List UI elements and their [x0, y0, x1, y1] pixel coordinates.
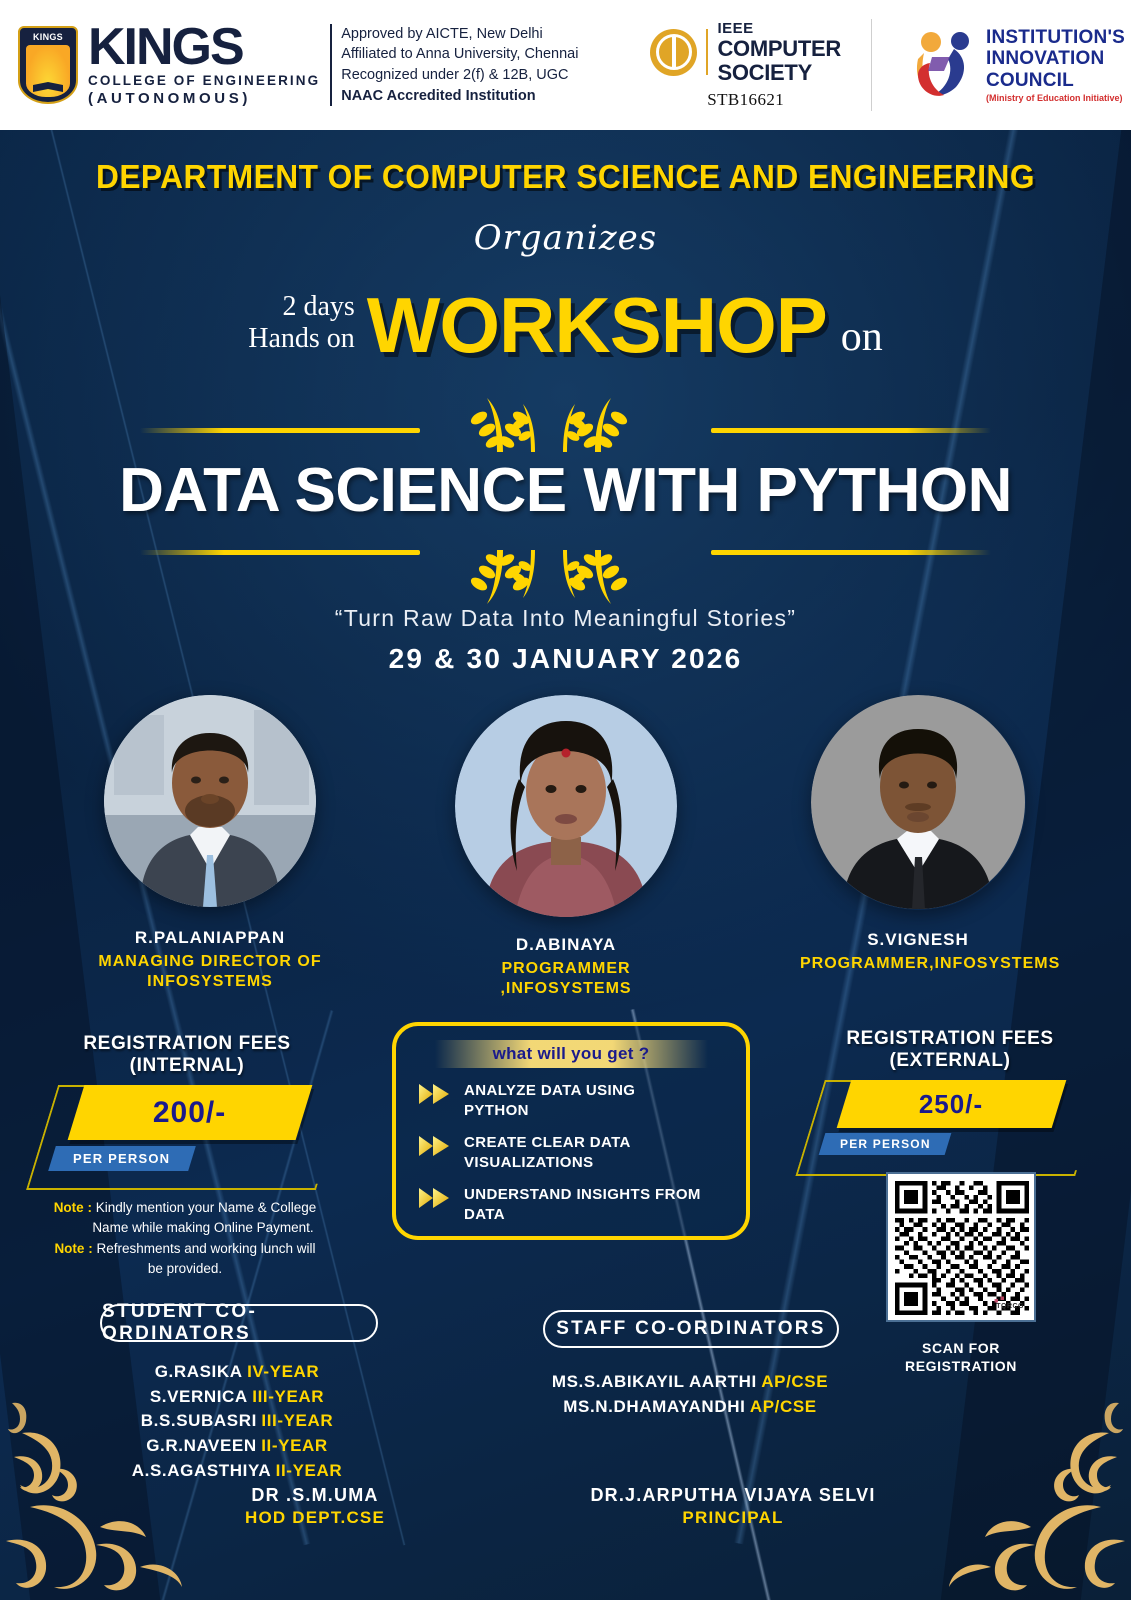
ornament-bar-right [711, 550, 991, 555]
staff-dept: AP/CSE [761, 1372, 828, 1391]
iic-line-1: INSTITUTION'S [986, 27, 1125, 48]
fee-per-internal: PER PERSON [73, 1151, 170, 1166]
workshop-title: DATA SCIENCE WITH PYTHON [0, 455, 1131, 526]
workshop-dates: 29 & 30 JANUARY 2026 [0, 643, 1131, 675]
header-divider [871, 19, 872, 111]
page-title: DEPARTMENT OF COMPUTER SCIENCE AND ENGIN… [23, 158, 1109, 196]
iic-line-2: INNOVATION [986, 48, 1125, 69]
ornament-bar-right [711, 428, 991, 433]
iic-logo-block: INSTITUTION'S INNOVATION COUNCIL (Minist… [910, 27, 1125, 103]
ieee-seal-icon [650, 29, 697, 76]
accreditation-line-4: NAAC Accredited Institution [341, 86, 578, 107]
accreditation-line-2: Affiliated to Anna University, Chennai [341, 44, 578, 65]
ornament-bar-left [140, 550, 420, 555]
fee-amount-internal: 200/- [153, 1096, 226, 1130]
shield-label: KINGS [33, 32, 63, 42]
workshop-duration: 2 days Hands on [248, 291, 355, 360]
speaker-role: PROGRAMMER ,INFOSYSTEMS [443, 959, 689, 998]
kings-shield-icon: KINGS [18, 26, 78, 104]
fee-amount-external: 250/- [919, 1089, 983, 1120]
double-chevron-icon [418, 1135, 452, 1162]
iic-figure-icon [910, 27, 986, 103]
iic-ministry-note: (Ministry of Education Initiative) [986, 93, 1125, 103]
benefits-card: what will you get ? ANALYZE DATA USING P… [392, 1022, 750, 1240]
fee-per-internal-badge: PER PERSON [48, 1146, 196, 1171]
signatory-designation: HOD DEPT.CSE [165, 1508, 465, 1528]
duration-line-1: 2 days [248, 291, 355, 322]
ieee-computer-label: COMPUTER [717, 37, 841, 60]
staff-coordinators-label: STAFF CO-ORDINATORS [556, 1318, 826, 1340]
college-logo-block: KINGS KINGS COLLEGE OF ENGINEERING (AUTO… [0, 23, 320, 107]
list-item: A.S.AGASTHIYA II-YEAR [72, 1459, 402, 1484]
benefits-heading: what will you get ? [435, 1040, 708, 1068]
workshop-tagline: “Turn Raw Data Into Meaningful Stories” [0, 605, 1131, 632]
fee-per-external: PER PERSON [840, 1137, 931, 1151]
ornament-bar-left [140, 428, 420, 433]
speaker-card: R.PALANIAPPAN MANAGING DIRECTOR OF INFOS… [95, 695, 325, 991]
coordinator-name: A.S.AGASTHIYA [132, 1461, 271, 1480]
student-coordinators-list: G.RASIKA IV-YEAR S.VERNICA III-YEAR B.S.… [72, 1360, 402, 1484]
on-word: on [841, 291, 883, 361]
coordinator-name: S.VERNICA [150, 1387, 248, 1406]
coordinator-year: III-YEAR [252, 1387, 324, 1406]
duration-line-2: Hands on [248, 323, 355, 354]
fee-amount-external-badge: 250/- [837, 1080, 1067, 1128]
staff-name: MS.S.ABIKAYIL AARTHI [552, 1372, 757, 1391]
laurel-ornament-icon [435, 546, 695, 606]
fee-per-external-badge: PER PERSON [819, 1133, 952, 1155]
college-name: KINGS [88, 23, 320, 72]
college-subtitle: COLLEGE OF ENGINEERING [88, 73, 320, 88]
workshop-headline: 2 days Hands on WORKSHOP on [0, 280, 1131, 371]
workshop-word: WORKSHOP [367, 280, 827, 371]
avatar [104, 695, 316, 907]
qr-caption-line-2: REGISTRATION [876, 1358, 1046, 1376]
benefit-item: CREATE CLEAR DATA VISUALIZATIONS [418, 1133, 746, 1172]
signatory-name: DR.J.ARPUTHA VIJAYA SELVI [578, 1485, 888, 1506]
speaker-name: D.ABINAYA [443, 935, 689, 955]
list-item: S.VERNICA III-YEAR [72, 1385, 402, 1410]
list-item: MS.N.DHAMAYANDHI AP/CSE [525, 1395, 855, 1420]
note-2-label: Note : [54, 1241, 92, 1256]
speaker-role: MANAGING DIRECTOR OF INFOSYSTEMS [95, 952, 325, 991]
organizes-label: Organizes [0, 218, 1131, 258]
qr-caption: SCAN FOR REGISTRATION [876, 1340, 1046, 1375]
coordinator-name: G.R.NAVEEN [146, 1436, 257, 1455]
coordinator-year: IV-YEAR [247, 1362, 319, 1381]
note-2: Note : Refreshments and working lunch wi… [30, 1239, 340, 1259]
avatar [455, 695, 677, 917]
note-1-label: Note : [54, 1200, 92, 1215]
ornament-divider-top [0, 402, 1131, 458]
staff-coordinators-list: MS.S.ABIKAYIL AARTHI AP/CSE MS.N.DHAMAYA… [525, 1370, 855, 1419]
fee-title-line-1: REGISTRATION FEES [42, 1033, 332, 1055]
avatar [811, 695, 1026, 910]
list-item: G.RASIKA IV-YEAR [72, 1360, 402, 1385]
ieee-label: IEEE [717, 20, 841, 37]
qr-caption-line-1: SCAN FOR [876, 1340, 1046, 1358]
student-coordinators-heading: STUDENT CO-ORDINATORS [100, 1304, 378, 1342]
coordinator-name: B.S.SUBASRI [141, 1411, 257, 1430]
shield-sun-icon [26, 45, 70, 97]
qr-code-image [895, 1181, 1029, 1315]
fee-title-internal: REGISTRATION FEES (INTERNAL) [42, 1033, 332, 1077]
list-item: G.R.NAVEEN II-YEAR [72, 1434, 402, 1459]
fee-card-external: REGISTRATION FEES (EXTERNAL) 250/- PER P… [810, 1028, 1090, 1190]
signatory-principal: DR.J.ARPUTHA VIJAYA SELVI PRINCIPAL [578, 1485, 888, 1528]
accreditation-line-1: Approved by AICTE, New Delhi [341, 24, 578, 45]
speaker-card: D.ABINAYA PROGRAMMER ,INFOSYSTEMS [443, 695, 689, 998]
fee-title-line-2: (INTERNAL) [42, 1055, 332, 1077]
iic-line-3: COUNCIL [986, 70, 1125, 91]
qr-watermark: TQRCG [996, 1303, 1024, 1310]
payment-notes: Note : Kindly mention your Name & Colleg… [30, 1198, 340, 1279]
note-1-text: Kindly mention your Name & College [92, 1200, 316, 1215]
double-chevron-icon [418, 1187, 452, 1214]
poster-body: DEPARTMENT OF COMPUTER SCIENCE AND ENGIN… [0, 130, 1131, 1600]
ornament-divider-bottom [0, 528, 1131, 584]
note-1-cont: Name while making Online Payment. [30, 1218, 340, 1238]
institution-header: KINGS KINGS COLLEGE OF ENGINEERING (AUTO… [0, 0, 1131, 130]
double-chevron-icon [418, 1083, 452, 1110]
coordinator-name: G.RASIKA [155, 1362, 243, 1381]
ieee-computer-society-logo: IEEE COMPUTER SOCIETY STB16621 [650, 20, 841, 109]
signatory-designation: PRINCIPAL [578, 1508, 888, 1528]
fee-title-line-2: (EXTERNAL) [810, 1050, 1090, 1072]
corner-ornament-right-icon [931, 1395, 1131, 1600]
benefit-text: ANALYZE DATA USING PYTHON [464, 1081, 635, 1120]
benefit-text: CREATE CLEAR DATA VISUALIZATIONS [464, 1133, 631, 1172]
coordinator-year: II-YEAR [261, 1436, 328, 1455]
staff-dept: AP/CSE [750, 1397, 817, 1416]
college-name-block: KINGS COLLEGE OF ENGINEERING (AUTONOMOUS… [88, 23, 320, 107]
note-2-text: Refreshments and working lunch will [93, 1241, 316, 1256]
fee-card-internal: REGISTRATION FEES (INTERNAL) 200/- PER P… [42, 1033, 332, 1207]
speaker-name: R.PALANIAPPAN [95, 928, 325, 948]
accreditation-list: Approved by AICTE, New Delhi Affiliated … [330, 24, 578, 106]
note-2-cont: be provided. [30, 1259, 340, 1279]
ieee-society-label: SOCIETY [717, 61, 841, 84]
list-item: B.S.SUBASRI III-YEAR [72, 1409, 402, 1434]
laurel-ornament-icon [435, 396, 695, 452]
benefit-item: ANALYZE DATA USING PYTHON [418, 1081, 746, 1120]
ieee-chapter-code: STB16621 [707, 90, 784, 110]
fee-title-external: REGISTRATION FEES (EXTERNAL) [810, 1028, 1090, 1072]
ieee-divider [706, 29, 708, 75]
college-autonomous: (AUTONOMOUS) [88, 90, 320, 107]
signatory-hod: DR .S.M.UMA HOD DEPT.CSE [165, 1485, 465, 1528]
shield-book-icon [33, 82, 63, 92]
list-item: MS.S.ABIKAYIL AARTHI AP/CSE [525, 1370, 855, 1395]
speaker-role: PROGRAMMER,INFOSYSTEMS [800, 954, 1036, 974]
student-coordinators-label: STUDENT CO-ORDINATORS [102, 1301, 376, 1345]
benefit-item: UNDERSTAND INSIGHTS FROM DATA [418, 1185, 746, 1224]
speaker-card: S.VIGNESH PROGRAMMER,INFOSYSTEMS [800, 695, 1036, 974]
registration-qr-code[interactable]: TQRCG [886, 1172, 1036, 1322]
speaker-name: S.VIGNESH [800, 930, 1036, 950]
staff-coordinators-heading: STAFF CO-ORDINATORS [543, 1310, 839, 1348]
staff-name: MS.N.DHAMAYANDHI [563, 1397, 745, 1416]
coordinator-year: III-YEAR [261, 1411, 333, 1430]
coordinator-year: II-YEAR [276, 1461, 343, 1480]
fee-amount-internal-badge: 200/- [68, 1085, 313, 1140]
benefit-text: UNDERSTAND INSIGHTS FROM DATA [464, 1185, 701, 1224]
signatory-name: DR .S.M.UMA [165, 1485, 465, 1506]
note-1: Note : Kindly mention your Name & Colleg… [30, 1198, 340, 1218]
fee-title-line-1: REGISTRATION FEES [810, 1028, 1090, 1050]
accreditation-line-3: Recognized under 2(f) & 12B, UGC [341, 65, 578, 86]
